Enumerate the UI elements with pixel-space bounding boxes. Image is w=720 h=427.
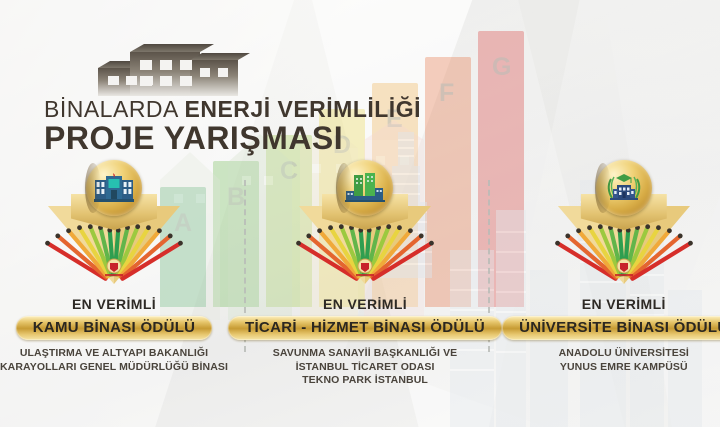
- winner-line: SAVUNMA SANAYİİ BAŞKANLIĞI VE: [273, 347, 458, 361]
- award-column-kamu: EN VERİMLİ KAMU BİNASI ÖDÜLÜ ULAŞTIRMA V…: [0, 160, 228, 410]
- awards-row: EN VERİMLİ KAMU BİNASI ÖDÜLÜ ULAŞTIRMA V…: [0, 160, 720, 410]
- winner-line: ULAŞTIRMA VE ALTYAPI BAKANLIĞI: [0, 347, 228, 361]
- commercial-towers-icon: [345, 173, 385, 203]
- medal-ticari: [337, 160, 393, 216]
- award-winner-3: ANADOLU ÜNİVERSİTESİ YUNUS EMRE KAMPÜSÜ: [559, 347, 689, 374]
- trophy-kamu: [44, 160, 184, 288]
- title-word-binalarda: BİNALARDA: [44, 96, 178, 122]
- title-words-enerji-verimliligi: ENERJİ VERİMLİLİĞİ: [185, 96, 421, 122]
- award-label-top-3: EN VERİMLİ: [582, 296, 666, 312]
- medal-universite: [596, 160, 652, 216]
- winner-line: ANADOLU ÜNİVERSİTESİ: [559, 347, 689, 361]
- award-winner-1: ULAŞTIRMA VE ALTYAPI BAKANLIĞI KARAYOLLA…: [0, 347, 228, 374]
- bg-energy-letter-g: G: [492, 53, 511, 82]
- medal-kamu: [86, 160, 142, 216]
- trophy-ticari: [295, 160, 435, 288]
- award-column-ticari: EN VERİMLİ TİCARİ - HİZMET BİNASI ÖDÜLÜ …: [228, 160, 502, 410]
- poster-title-line1: BİNALARDA ENERJİ VERİMLİLİĞİ: [44, 96, 464, 122]
- government-building-icon: [94, 173, 134, 203]
- university-building-icon: [604, 173, 644, 203]
- winner-line: KARAYOLLARI GENEL MÜDÜRLÜĞÜ BİNASI: [0, 361, 228, 375]
- award-badge-2: TİCARİ - HİZMET BİNASI ÖDÜLÜ: [228, 316, 502, 340]
- header-buildings-icon: [72, 18, 302, 96]
- award-winner-2: SAVUNMA SANAYİİ BAŞKANLIĞI VE İSTANBUL T…: [273, 347, 458, 388]
- award-column-universite: EN VERİMLİ ÜNİVERSİTE BİNASI ÖDÜLÜ ANADO…: [502, 160, 720, 410]
- award-badge-3: ÜNİVERSİTE BİNASI ÖDÜLÜ: [502, 316, 720, 340]
- winner-line: TEKNO PARK İSTANBUL: [273, 374, 458, 388]
- award-label-top-1: EN VERİMLİ: [72, 296, 156, 312]
- poster-title-line2: PROJE YARIŞMASI: [44, 121, 464, 156]
- winner-line: İSTANBUL TİCARET ODASI: [273, 361, 458, 375]
- poster-stage: ABCDEFG: [0, 0, 720, 427]
- winner-line: YUNUS EMRE KAMPÜSÜ: [559, 361, 689, 375]
- award-label-top-2: EN VERİMLİ: [323, 296, 407, 312]
- trophy-universite: [554, 160, 694, 288]
- award-badge-1: KAMU BİNASI ÖDÜLÜ: [16, 316, 213, 340]
- poster-header: BİNALARDA ENERJİ VERİMLİLİĞİ PROJE YARIŞ…: [44, 18, 464, 156]
